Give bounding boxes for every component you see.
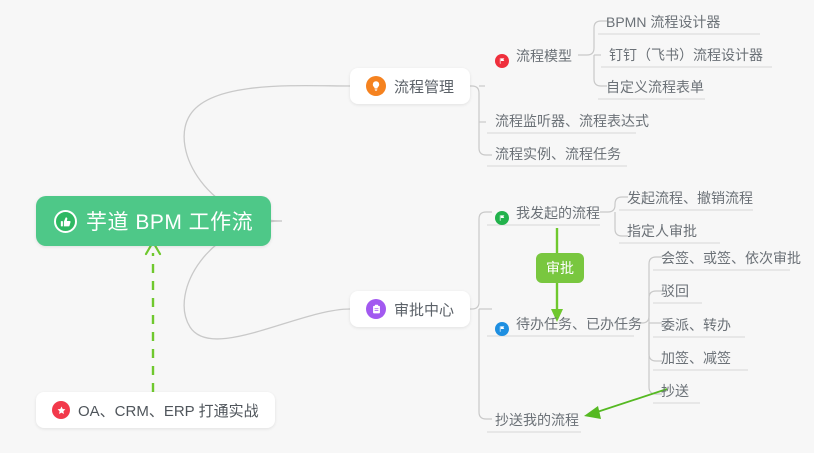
- node-process-model[interactable]: 流程模型: [487, 42, 578, 68]
- node-label: 钉钉（飞书）流程设计器: [609, 48, 763, 67]
- flag-red-icon: [495, 54, 509, 68]
- node-my-started-processes[interactable]: 我发起的流程: [487, 199, 606, 225]
- node-label: 抄送: [661, 384, 689, 403]
- node-countersign[interactable]: 会签、或签、依次审批: [653, 244, 807, 270]
- branch-label: 审批中心: [394, 299, 454, 320]
- node-label: 流程模型: [516, 49, 572, 68]
- node-cc[interactable]: 抄送: [653, 377, 695, 403]
- lightbulb-icon: [366, 76, 386, 96]
- flag-green-icon: [495, 211, 509, 225]
- node-custom-process-form[interactable]: 自定义流程表单: [598, 73, 710, 99]
- node-label: 自定义流程表单: [606, 80, 704, 99]
- node-todo-done-tasks[interactable]: 待办任务、已办任务: [487, 310, 648, 336]
- tag-label: 审批: [546, 258, 574, 278]
- node-label: 驳回: [661, 284, 689, 303]
- approval-flow-tag: 审批: [536, 253, 584, 283]
- node-label: 流程监听器、流程表达式: [495, 114, 649, 133]
- node-label: 加签、减签: [661, 351, 731, 370]
- node-cc-to-me[interactable]: 抄送我的流程: [487, 406, 585, 432]
- node-label: BPMN 流程设计器: [606, 15, 720, 34]
- node-listener-expression[interactable]: 流程监听器、流程表达式: [487, 107, 655, 133]
- node-label: 指定人审批: [627, 224, 697, 243]
- node-instance-task[interactable]: 流程实例、流程任务: [487, 140, 627, 166]
- node-label: 抄送我的流程: [495, 413, 579, 432]
- node-delegate-transfer[interactable]: 委派、转办: [653, 311, 737, 337]
- node-assignee-approval[interactable]: 指定人审批: [619, 217, 703, 243]
- branch-label: 流程管理: [394, 76, 454, 97]
- mindmap-canvas: 芋道 BPM 工作流 流程管理 流程模型 BPMN 流程设计器 钉钉（飞书）流程…: [0, 0, 814, 453]
- node-label: 委派、转办: [661, 318, 731, 337]
- branch-approval-center[interactable]: 审批中心: [350, 291, 470, 327]
- node-label: 流程实例、流程任务: [495, 147, 621, 166]
- node-reject[interactable]: 驳回: [653, 277, 695, 303]
- node-add-remove-sign[interactable]: 加签、减签: [653, 344, 737, 370]
- branch-process-management[interactable]: 流程管理: [350, 68, 470, 104]
- node-start-cancel-process[interactable]: 发起流程、撤销流程: [619, 184, 759, 210]
- star-icon: [52, 401, 70, 419]
- node-label: 会签、或签、依次审批: [661, 251, 801, 270]
- integration-link-arrow: [146, 242, 160, 392]
- integration-card[interactable]: OA、CRM、ERP 打通实战: [36, 392, 275, 428]
- integration-card-label: OA、CRM、ERP 打通实战: [78, 400, 259, 421]
- root-label: 芋道 BPM 工作流: [86, 206, 253, 236]
- clipboard-icon: [366, 299, 386, 319]
- node-label: 我发起的流程: [516, 206, 600, 225]
- node-dingtalk-feishu-designer[interactable]: 钉钉（飞书）流程设计器: [601, 41, 769, 67]
- node-label: 待办任务、已办任务: [516, 317, 642, 336]
- node-label: 发起流程、撤销流程: [627, 191, 753, 210]
- flag-blue-icon: [495, 322, 509, 336]
- thumbs-up-icon: [54, 210, 77, 233]
- node-bpmn-designer[interactable]: BPMN 流程设计器: [598, 8, 726, 34]
- root-node[interactable]: 芋道 BPM 工作流: [36, 196, 271, 246]
